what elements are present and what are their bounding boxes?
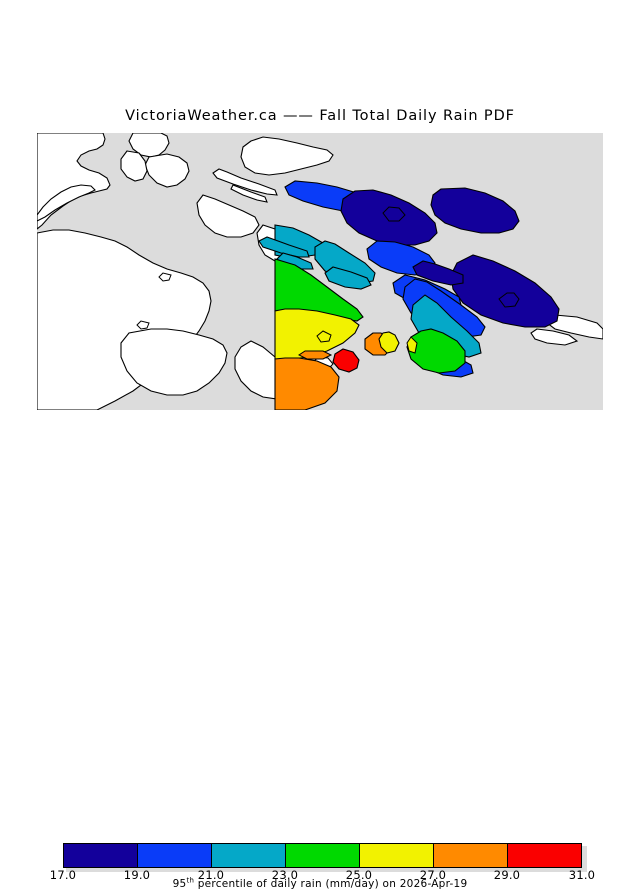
colorbar-caption-superscript: th	[186, 877, 194, 885]
colorbar-caption-rest: percentile of daily rain (mm/day) on 202…	[194, 878, 467, 890]
screenshot-root: VictoriaWeather.ca —— Fall Total Daily R…	[0, 0, 640, 480]
colorbar-caption: 95th percentile of daily rain (mm/day) o…	[0, 878, 640, 890]
colorbar-segment-0[interactable]	[64, 844, 138, 867]
colorbar-segment-5[interactable]	[434, 844, 508, 867]
colorbar-caption-prefix: 95	[173, 878, 187, 890]
colorbar-segment-1[interactable]	[138, 844, 212, 867]
map-canvas[interactable]	[37, 133, 603, 410]
colorbar-region[interactable]: 17.0 19.0 21.0 23.0 25.0 27.0 29.0 31.0 …	[0, 418, 640, 480]
colorbar-segment-4[interactable]	[360, 844, 434, 867]
colorbar-segment-2[interactable]	[212, 844, 286, 867]
page-title: VictoriaWeather.ca —— Fall Total Daily R…	[0, 108, 640, 124]
map-svg	[37, 133, 603, 410]
region-orange-sliver	[299, 351, 331, 359]
colorbar[interactable]	[63, 843, 582, 868]
colorbar-segment-3[interactable]	[286, 844, 360, 867]
colorbar-segment-6[interactable]	[508, 844, 581, 867]
